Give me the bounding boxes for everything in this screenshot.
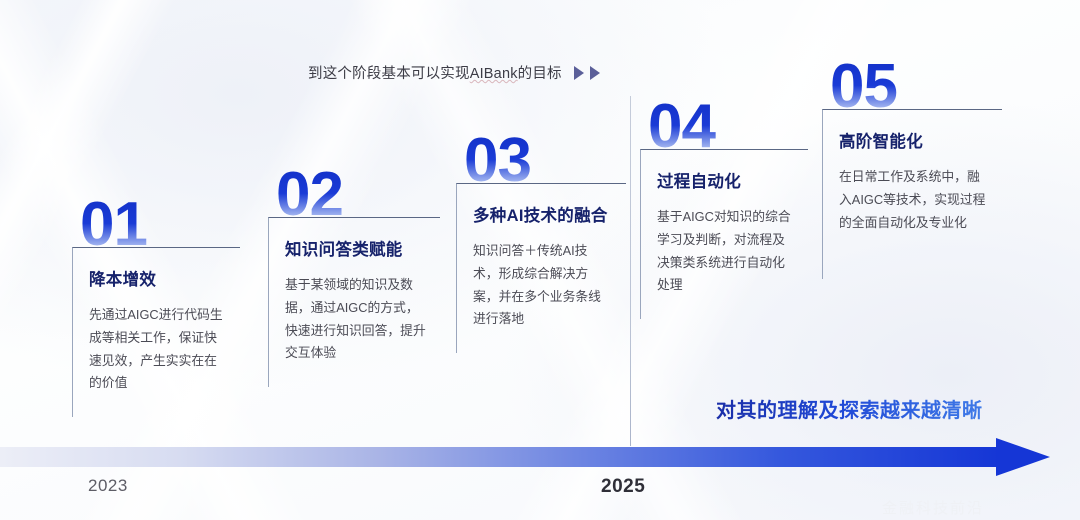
step-description: 在日常工作及系统中，融入AIGC等技术，实现过程的全面自动化及专业化: [839, 166, 988, 234]
annotation-prefix: 到这个阶段基本可以实现: [308, 66, 470, 82]
step-card-body: 过程自动化 基于AIGC对知识的综合学习及判断，对流程及决策类系统进行自动化处理: [640, 149, 808, 319]
annotation-suffix: 的目标: [518, 66, 562, 82]
step-title: 高阶智能化: [839, 128, 988, 152]
timeline-year-2025: 2025: [601, 476, 645, 498]
top-annotation-text: 到这个阶段基本可以实现AIBank的目标: [308, 62, 562, 83]
infographic-canvas: 到这个阶段基本可以实现AIBank的目标 01 降本增效 先通过AIGC进行代码…: [0, 0, 1080, 520]
step-card-body: 知识问答类赋能 基于某领域的知识及数据，通过AIGC的方式，快速进行知识回答，提…: [268, 217, 440, 387]
step-card-01: 01 降本增效 先通过AIGC进行代码生成等相关工作，保证快速见效，产生实实在在…: [72, 196, 240, 417]
tagline: 对其的理解及探索越来越清晰: [716, 394, 983, 423]
step-number: 04: [648, 98, 808, 155]
step-title: 知识问答类赋能: [285, 236, 426, 260]
step-description: 知识问答＋传统AI技术，形成综合解决方案，并在多个业务条线进行落地: [473, 240, 612, 331]
top-annotation: 到这个阶段基本可以实现AIBank的目标: [308, 62, 601, 83]
step-number: 02: [276, 166, 440, 223]
annotation-keyword: AIBank: [470, 66, 518, 82]
double-chevron-right-icon: [572, 65, 601, 81]
step-description: 先通过AIGC进行代码生成等相关工作，保证快速见效，产生实实在在的价值: [89, 304, 226, 395]
step-number: 05: [830, 58, 1002, 115]
timeline-arrow: [0, 438, 1080, 484]
step-card-body: 高阶智能化 在日常工作及系统中，融入AIGC等技术，实现过程的全面自动化及专业化: [822, 109, 1002, 279]
step-card-04: 04 过程自动化 基于AIGC对知识的综合学习及判断，对流程及决策类系统进行自动…: [640, 98, 808, 319]
timeline-year-2023: 2023: [88, 476, 128, 496]
step-number: 01: [80, 196, 240, 253]
step-card-03: 03 多种AI技术的融合 知识问答＋传统AI技术，形成综合解决方案，并在多个业务…: [456, 132, 626, 353]
step-title: 过程自动化: [657, 168, 794, 192]
step-description: 基于某领域的知识及数据，通过AIGC的方式，快速进行知识回答，提升交互体验: [285, 274, 426, 365]
step-number: 03: [464, 132, 626, 189]
step-description: 基于AIGC对知识的综合学习及判断，对流程及决策类系统进行自动化处理: [657, 206, 794, 297]
watermark: 金融科技前沿: [882, 497, 984, 518]
step-card-body: 多种AI技术的融合 知识问答＋传统AI技术，形成综合解决方案，并在多个业务条线进…: [456, 183, 626, 353]
step-title: 降本增效: [89, 266, 226, 290]
step-card-02: 02 知识问答类赋能 基于某领域的知识及数据，通过AIGC的方式，快速进行知识回…: [268, 166, 440, 387]
step-card-05: 05 高阶智能化 在日常工作及系统中，融入AIGC等技术，实现过程的全面自动化及…: [822, 58, 1002, 279]
phase-divider: [630, 96, 631, 446]
step-card-body: 降本增效 先通过AIGC进行代码生成等相关工作，保证快速见效，产生实实在在的价值: [72, 247, 240, 417]
step-title: 多种AI技术的融合: [473, 202, 612, 226]
